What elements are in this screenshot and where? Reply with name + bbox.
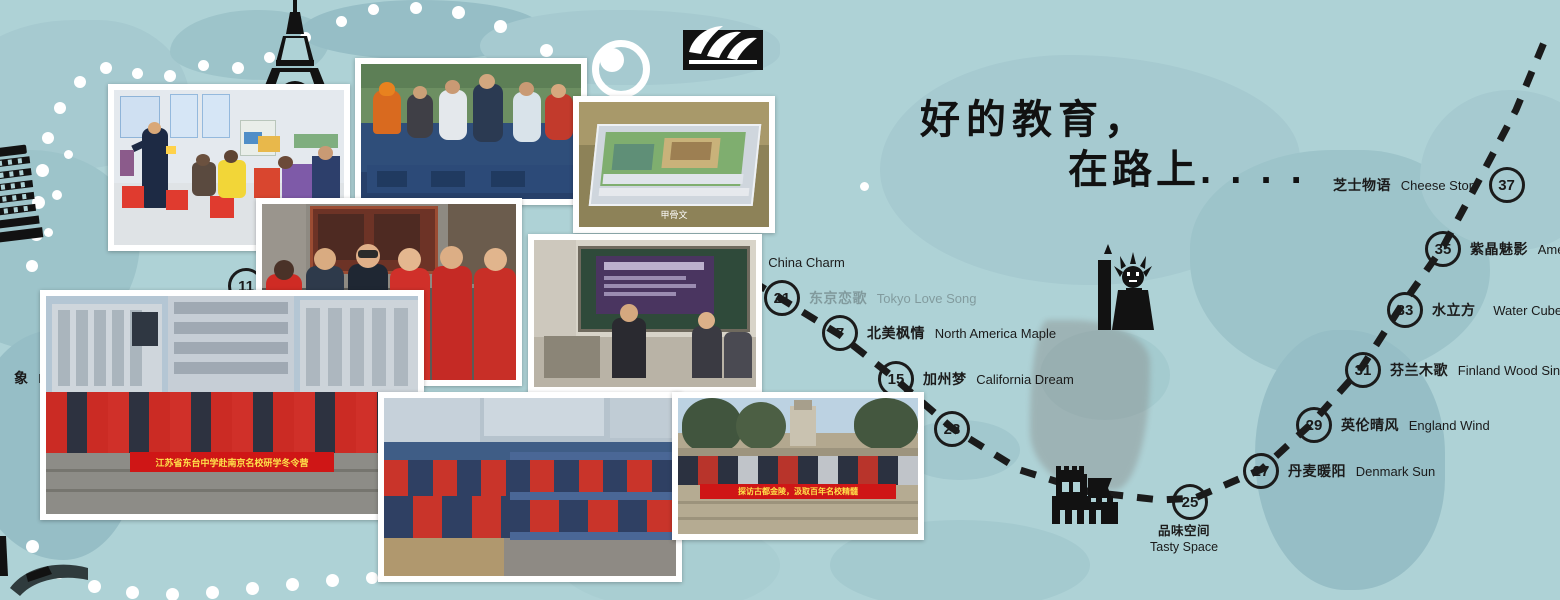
photo-lecture-hall-presentation[interactable] [528, 234, 762, 393]
route-stop-label-en: California Dream [976, 372, 1074, 387]
route-stop-label-cn: 品味空间 [1150, 523, 1218, 539]
bridge-icon [0, 530, 88, 600]
route-stop-label: 品味空间 Tasty Space [1150, 523, 1218, 555]
route-stop-label-en: Water Cube [1493, 303, 1560, 318]
route-stop-label-en: England Wind [1409, 418, 1490, 433]
photo-students-outdoor-activity[interactable] [355, 58, 587, 205]
route-stop-label-en: Amethyst Ch [1538, 242, 1560, 257]
route-stop-label: 加州梦 California Dream [923, 369, 1074, 389]
route-stop-label-en: Denmark Sun [1356, 464, 1435, 479]
photo-banner-text: 江苏省东台中学赴南京名校研学冬令营 [130, 452, 334, 472]
route-stop-label-cn: 东京恋歌 [809, 290, 867, 306]
sydney-opera-house-icon [683, 22, 763, 75]
route-stop-label: 北美枫情 North America Maple [867, 323, 1056, 343]
poster-canvas: 好的教育， 在路上. . . . 韵 China Charm 象 En 11 2… [0, 0, 1560, 600]
route-stop-label: 紫晶魅影 Amethyst Ch [1470, 239, 1560, 259]
photo-auditorium-audience[interactable] [378, 392, 682, 582]
route-stop-number: 23 [934, 411, 970, 447]
route-stop-label: 英伦晴风 England Wind [1341, 415, 1490, 435]
route-stop-number: 21 [764, 280, 800, 316]
route-stop-label-en: Cheese Story [1401, 178, 1480, 193]
title-line-2: 在路上. . . . [1068, 145, 1306, 195]
route-stop-number: 29 [1296, 407, 1332, 443]
leaning-tower-of-pisa-icon [0, 140, 48, 255]
route-stop-label-cn: 芝士物语 [1333, 177, 1391, 193]
route-label-cn: 象 [14, 370, 29, 386]
route-stop-label: 丹麦暖阳 Denmark Sun [1288, 461, 1435, 481]
route-stop-number: 27 [1243, 453, 1279, 489]
route-stop-label-cn: 紫晶魅影 [1470, 241, 1528, 257]
route-stop-label-en: Finland Wood Singing [1458, 363, 1560, 378]
route-stop-label: 东京恋歌 Tokyo Love Song [809, 288, 977, 308]
route-stop-label-cn: 芬兰木歌 [1390, 362, 1448, 378]
route-label-en: China Charm [768, 255, 845, 270]
statue-of-liberty-icon [1082, 238, 1162, 335]
route-stop-label-cn: 英伦晴风 [1341, 417, 1399, 433]
photo-campus-model-display[interactable]: 甲骨文 [573, 96, 775, 233]
route-stop-35[interactable]: 35 紫晶魅影 Amethyst Ch [1425, 231, 1560, 267]
route-stop-number: 37 [1489, 167, 1525, 203]
route-stop-label-cn: 水立方 [1432, 302, 1476, 318]
route-stop-label: 芬兰木歌 Finland Wood Singing [1390, 360, 1560, 380]
title-line-1: 好的教育， [920, 95, 1306, 145]
route-stop-label-cn: 丹麦暖阳 [1288, 463, 1346, 479]
route-stop-label-cn: 加州梦 [923, 371, 967, 387]
route-stop-31[interactable]: 31 芬兰木歌 Finland Wood Singing [1345, 352, 1560, 388]
route-stop-33[interactable]: 33 水立方 Water Cube [1387, 292, 1560, 328]
route-stop-27[interactable]: 27 丹麦暖阳 Denmark Sun [1243, 453, 1435, 489]
route-stop-37[interactable]: 芝士物语 Cheese Story 37 [1333, 167, 1525, 203]
castle-fort-icon [1048, 452, 1126, 533]
route-stop-label-en: Tasty Space [1150, 539, 1218, 555]
route-stop-25[interactable]: 25 品味空间 Tasty Space [1172, 484, 1218, 555]
photo-university-building-group[interactable]: 江苏省东台中学赴南京名校研学冬令营 [40, 290, 424, 520]
route-stop-label-en: Tokyo Love Song [877, 291, 977, 306]
photo-memorial-steps-group[interactable]: 探访古都金陵，汲取百年名校精髓 [672, 392, 924, 540]
poster-title: 好的教育， 在路上. . . . [920, 95, 1306, 195]
route-stop-number: 25 [1172, 484, 1208, 520]
route-stop-number: 7 [822, 315, 858, 351]
route-stop-7[interactable]: 7 北美枫情 North America Maple [822, 315, 1056, 351]
route-stop-label: 水立方 Water Cube [1432, 300, 1560, 320]
route-stop-label: 芝士物语 Cheese Story [1333, 175, 1480, 195]
route-stop-label-cn: 北美枫情 [867, 325, 925, 341]
route-stop-number: 31 [1345, 352, 1381, 388]
route-stop-23[interactable]: 23 [934, 411, 970, 447]
route-stop-29[interactable]: 29 英伦晴风 England Wind [1296, 407, 1490, 443]
photo-caption: 甲骨文 [579, 208, 769, 221]
route-stop-21[interactable]: 21 东京恋歌 Tokyo Love Song [764, 280, 977, 316]
route-stop-label-en: North America Maple [935, 326, 1056, 341]
photo-banner-text: 探访古都金陵，汲取百年名校精髓 [700, 484, 896, 499]
route-stop-number: 35 [1425, 231, 1461, 267]
route-stop-number: 33 [1387, 292, 1423, 328]
